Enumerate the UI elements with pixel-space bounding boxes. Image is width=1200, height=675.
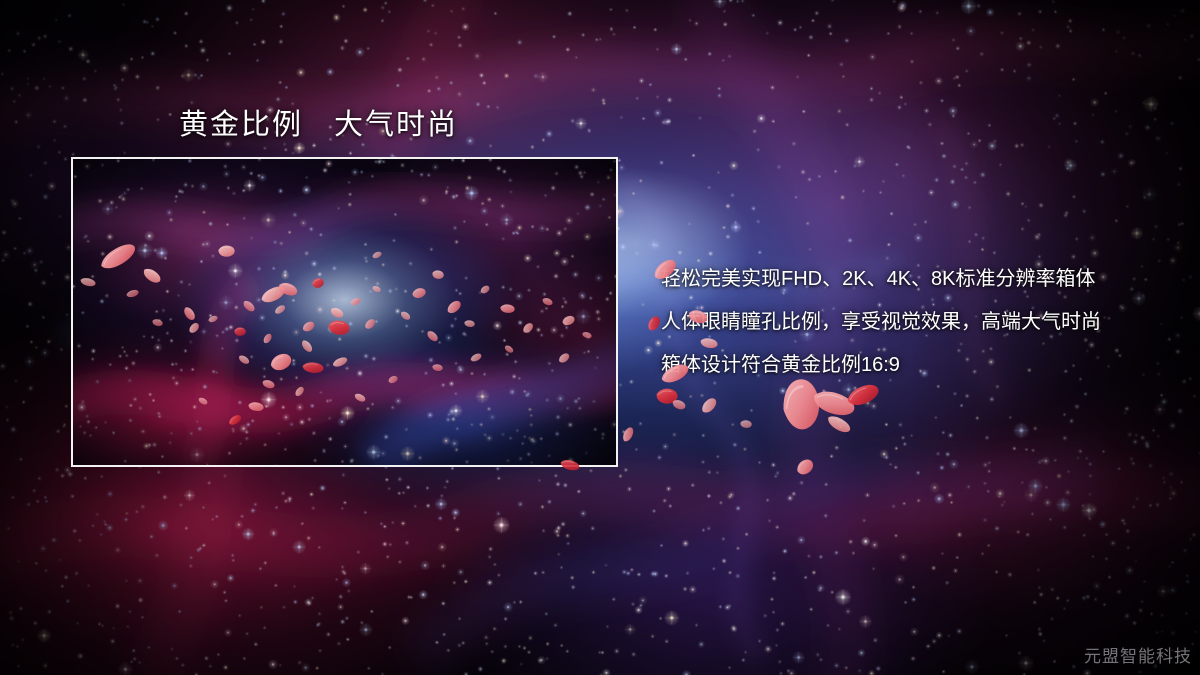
description-line-2: 人体眼睛瞳孔比例，享受视觉效果，高端大气时尚 <box>661 301 1181 344</box>
frame-vignette <box>73 159 616 465</box>
slide-canvas: 黄金比例 大气时尚 轻松完美实现FHD、2K、4K、8K标准分辨率箱体 人体眼睛… <box>0 0 1200 675</box>
description-line-1: 轻松完美实现FHD、2K、4K、8K标准分辨率箱体 <box>661 258 1181 301</box>
watermark: 元盟智能科技 <box>1084 642 1192 667</box>
golden-ratio-display-frame <box>71 157 618 467</box>
feature-description: 轻松完美实现FHD、2K、4K、8K标准分辨率箱体 人体眼睛瞳孔比例，享受视觉效… <box>661 258 1181 387</box>
description-line-3: 箱体设计符合黄金比例16:9 <box>661 344 1181 387</box>
page-title: 黄金比例 大气时尚 <box>179 101 458 143</box>
